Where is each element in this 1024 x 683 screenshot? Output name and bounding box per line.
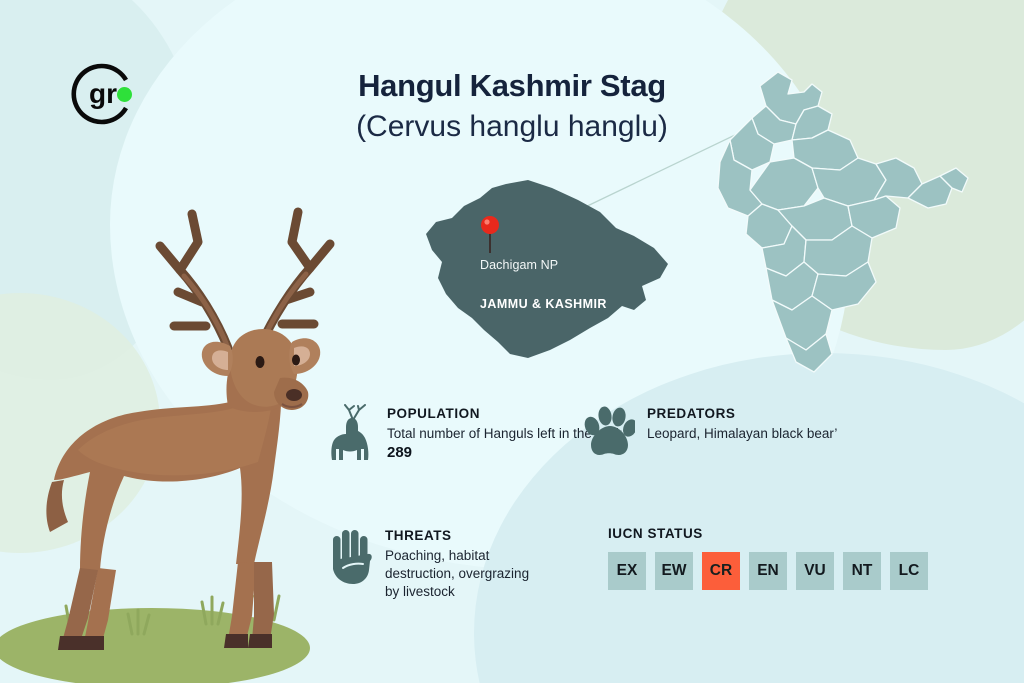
deer-eye-right [292, 355, 300, 366]
iucn-chip-cr[interactable]: CR [702, 552, 740, 590]
fact-body-threats: Poaching, habitat destruction, overgrazi… [385, 547, 545, 601]
map-label-dachigam: Dachigam NP [480, 258, 558, 272]
jammu-kashmir-map [410, 178, 690, 373]
iucn-heading: IUCN STATUS [608, 526, 928, 541]
iucn-chip-en[interactable]: EN [749, 552, 787, 590]
map-label-state: JAMMU & KASHMIR [480, 297, 607, 311]
iucn-status-block: IUCN STATUS EXEWCRENVUNTLC [608, 526, 928, 590]
fact-heading-predators: PREDATORS [647, 406, 837, 421]
fact-predators: PREDATORS Leopard, Himalayan black bear’ [583, 404, 837, 460]
iucn-chip-ex[interactable]: EX [608, 552, 646, 590]
green-dot-icon [117, 87, 132, 102]
deer-tail [46, 480, 68, 532]
hand-palm-icon [327, 526, 373, 588]
fact-body-predators: Leopard, Himalayan black bear’ [647, 425, 837, 443]
logo-text: gr [89, 78, 117, 109]
fact-population: POPULATION Total number of Hanguls left … [327, 404, 623, 466]
paw-print-icon [583, 404, 635, 460]
iucn-chip-lc[interactable]: LC [890, 552, 928, 590]
hangul-deer-illustration [0, 150, 352, 683]
deer-silhouette-icon [327, 404, 375, 466]
scientific-name: (Cervus hanglu hanglu) [262, 107, 762, 146]
fact-threats: THREATS Poaching, habitat destruction, o… [327, 526, 545, 601]
iucn-chip-ew[interactable]: EW [655, 552, 693, 590]
title-block: Hangul Kashmir Stag (Cervus hanglu hangl… [262, 68, 762, 146]
brand-logo[interactable]: gr [68, 58, 140, 130]
deer-eye-left [256, 356, 265, 368]
iucn-scale: EXEWCRENVUNTLC [608, 552, 928, 590]
location-pin-icon [478, 215, 502, 255]
iucn-chip-nt[interactable]: NT [843, 552, 881, 590]
page-title: Hangul Kashmir Stag [262, 68, 762, 104]
fact-heading-threats: THREATS [385, 528, 545, 543]
deer-nose [286, 389, 302, 401]
iucn-chip-vu[interactable]: VU [796, 552, 834, 590]
